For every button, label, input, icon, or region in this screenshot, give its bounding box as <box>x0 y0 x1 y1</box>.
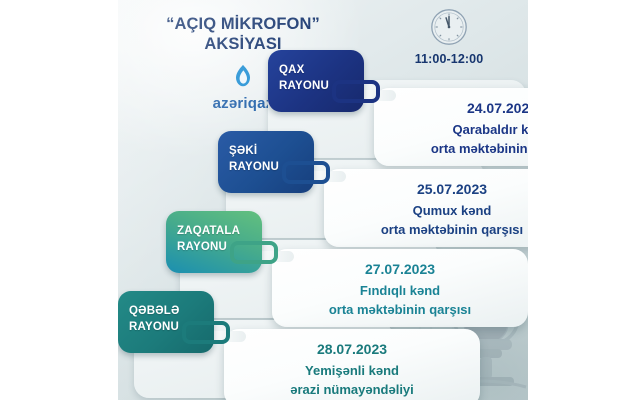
district-tab-zaqatala[interactable]: ZAQATALA RAYONU <box>166 211 262 273</box>
event-poster: “AÇIQ MİKROFON” AKSİYASI azəriqaz <box>118 0 528 400</box>
event-card-4[interactable]: 28.07.2023 Yemişənli kənd ərazi nümayənd… <box>224 329 480 400</box>
district-suffix-3: RAYONU <box>177 241 227 253</box>
district-tab-qax[interactable]: QAX RAYONU <box>268 50 364 112</box>
screenshot-canvas: “AÇIQ MİKROFON” AKSİYASI azəriqaz <box>0 0 637 400</box>
event-card-2[interactable]: 25.07.2023 Qumux kənd orta məktəbinin qa… <box>324 169 528 247</box>
event-date-2: 25.07.2023 <box>324 180 528 199</box>
event-place-line-2b: orta məktəbinin qarşısı <box>324 221 528 239</box>
event-place-line-1b: orta məktəbinin qarşısı <box>374 140 528 158</box>
event-card-1[interactable]: 24.07.2023 Qarabaldır kənd orta məktəbin… <box>374 88 528 166</box>
time-block: 11:00-12:00 <box>384 8 514 66</box>
district-name-1: QAX <box>279 64 305 76</box>
event-place-line-1a: Qarabaldır kənd <box>374 121 528 139</box>
district-name-2: ŞƏKİ <box>229 145 257 157</box>
district-suffix-1: RAYONU <box>279 80 329 92</box>
event-date-3: 27.07.2023 <box>272 260 528 279</box>
district-tab-seki[interactable]: ŞƏKİ RAYONU <box>218 131 314 193</box>
event-card-3[interactable]: 27.07.2023 Fındıqlı kənd orta məktəbinin… <box>272 249 528 327</box>
event-place-line-4a: Yemişənli kənd <box>224 362 480 380</box>
event-place-line-4b: ərazi nümayəndəliyi <box>224 381 480 399</box>
event-place-line-3a: Fındıqlı kənd <box>272 282 528 300</box>
event-place-line-3b: orta məktəbinin qarşısı <box>272 301 528 319</box>
event-place-line-2a: Qumux kənd <box>324 202 528 220</box>
connector-link-2 <box>282 161 330 184</box>
time-range: 11:00-12:00 <box>384 52 514 66</box>
district-name-3: ZAQATALA <box>177 225 240 237</box>
clock-icon <box>384 8 514 46</box>
connector-link-3 <box>230 241 278 264</box>
page-title: “AÇIQ MİKROFON” AKSİYASI <box>118 14 368 54</box>
event-date-4: 28.07.2023 <box>224 340 480 359</box>
event-date-1: 24.07.2023 <box>374 99 528 118</box>
district-suffix-2: RAYONU <box>229 161 279 173</box>
connector-link-1 <box>332 80 380 103</box>
title-line-1: “AÇIQ MİKROFON” <box>118 14 368 34</box>
connector-link-4 <box>182 321 230 344</box>
district-name-4: QƏBƏLƏ <box>129 305 180 317</box>
district-tab-qebele[interactable]: QƏBƏLƏ RAYONU <box>118 291 214 353</box>
district-suffix-4: RAYONU <box>129 321 179 333</box>
